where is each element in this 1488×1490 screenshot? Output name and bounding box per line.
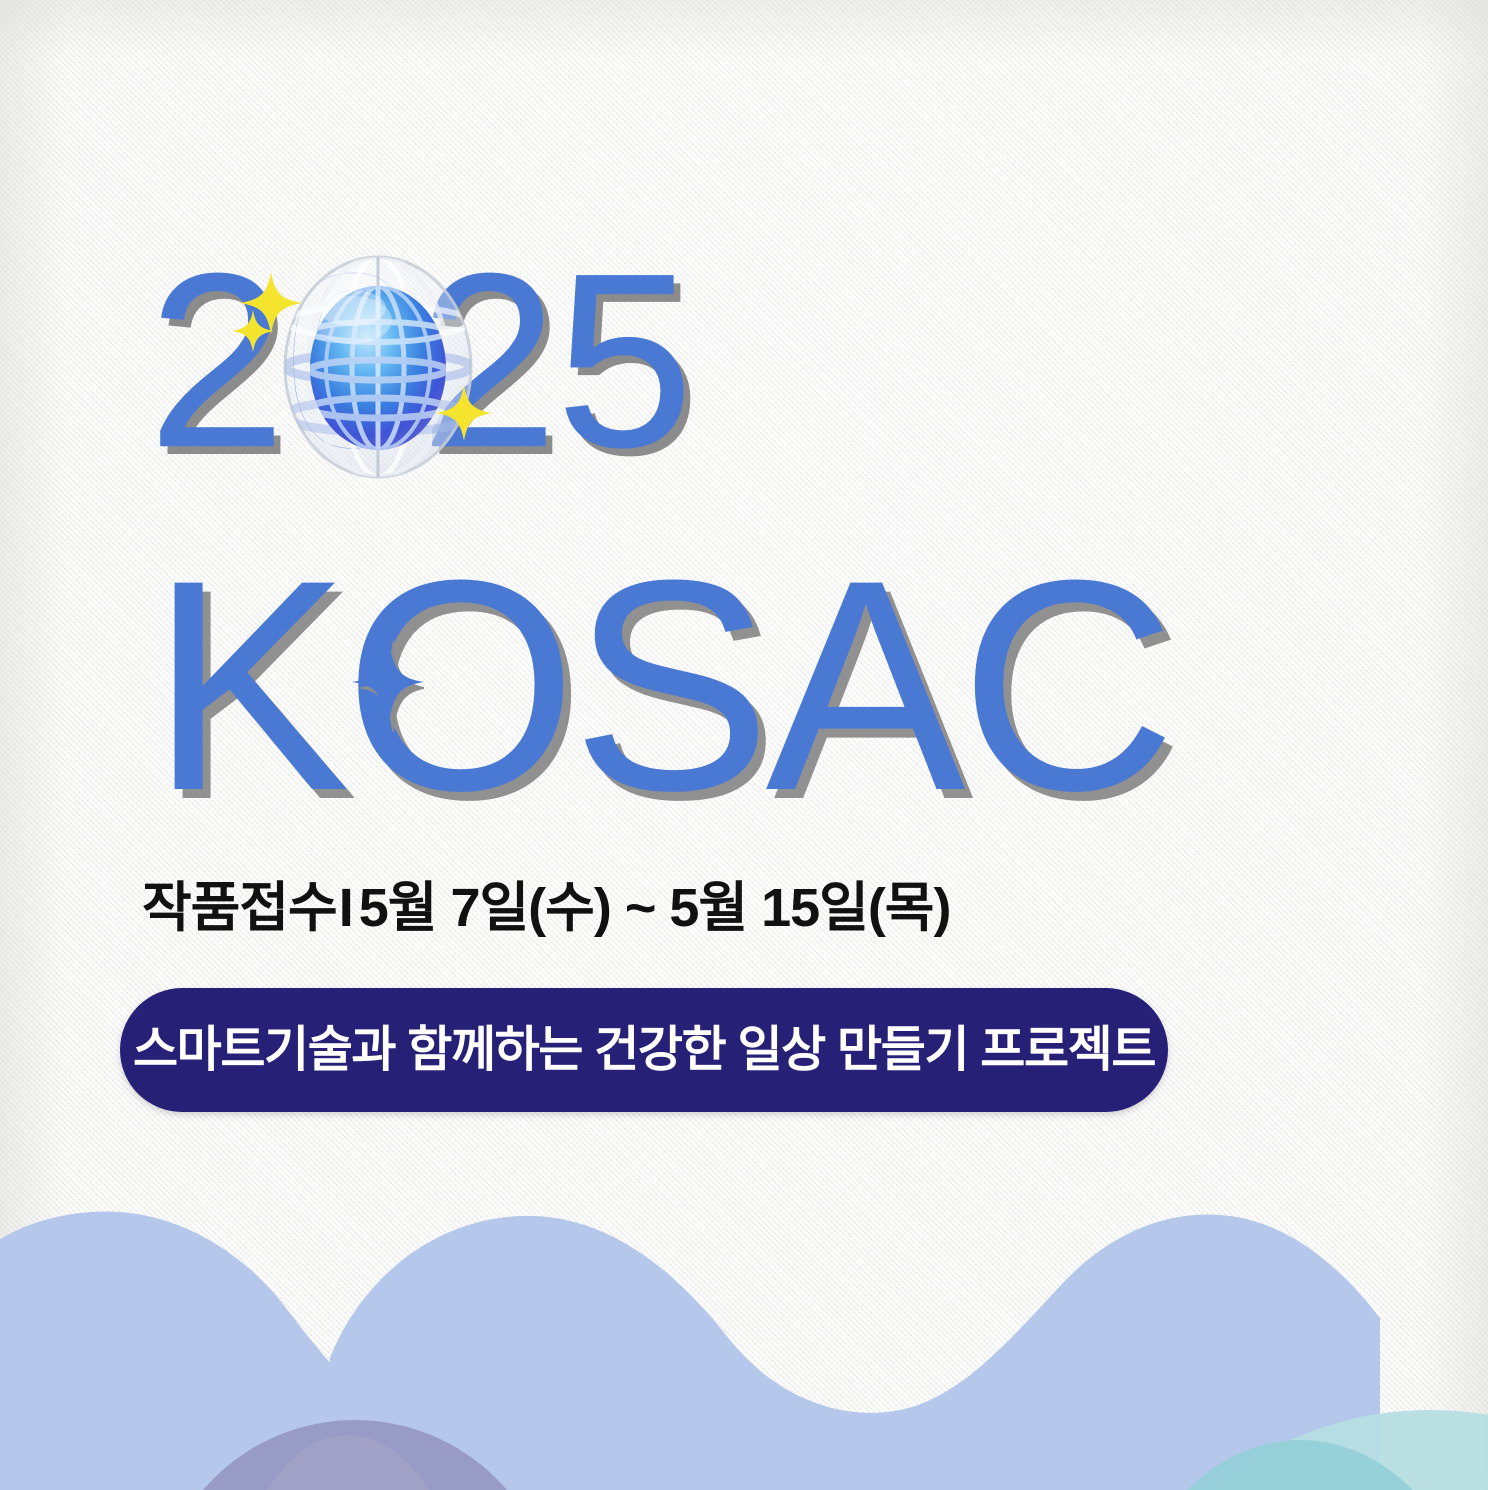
year-prefix: 2 xyxy=(148,221,284,499)
brand-text: KOSAC xyxy=(150,517,1170,853)
poster-canvas: 2025 xyxy=(0,0,1488,1490)
submission-period-line: 작품접수I5월 7일(수) ~ 5월 15일(목) xyxy=(142,873,950,943)
submission-period: 5월 7일(수) ~ 5월 15일(목) xyxy=(359,878,951,938)
globe-gloss xyxy=(318,290,386,326)
submission-separator: I xyxy=(337,878,359,938)
submission-label: 작품접수 xyxy=(142,878,337,938)
tagline-text: 스마트기술과 함께하는 건강한 일상 만들기 프로젝트 xyxy=(133,1020,1155,1080)
brand-headline: KOSAC xyxy=(150,556,1170,814)
sparkle-star-icon xyxy=(352,632,424,732)
tagline-badge: 스마트기술과 함께하는 건강한 일상 만들기 프로젝트 xyxy=(120,988,1168,1112)
poster-content: 2025 xyxy=(0,0,1488,1490)
globe-icon xyxy=(268,250,488,484)
